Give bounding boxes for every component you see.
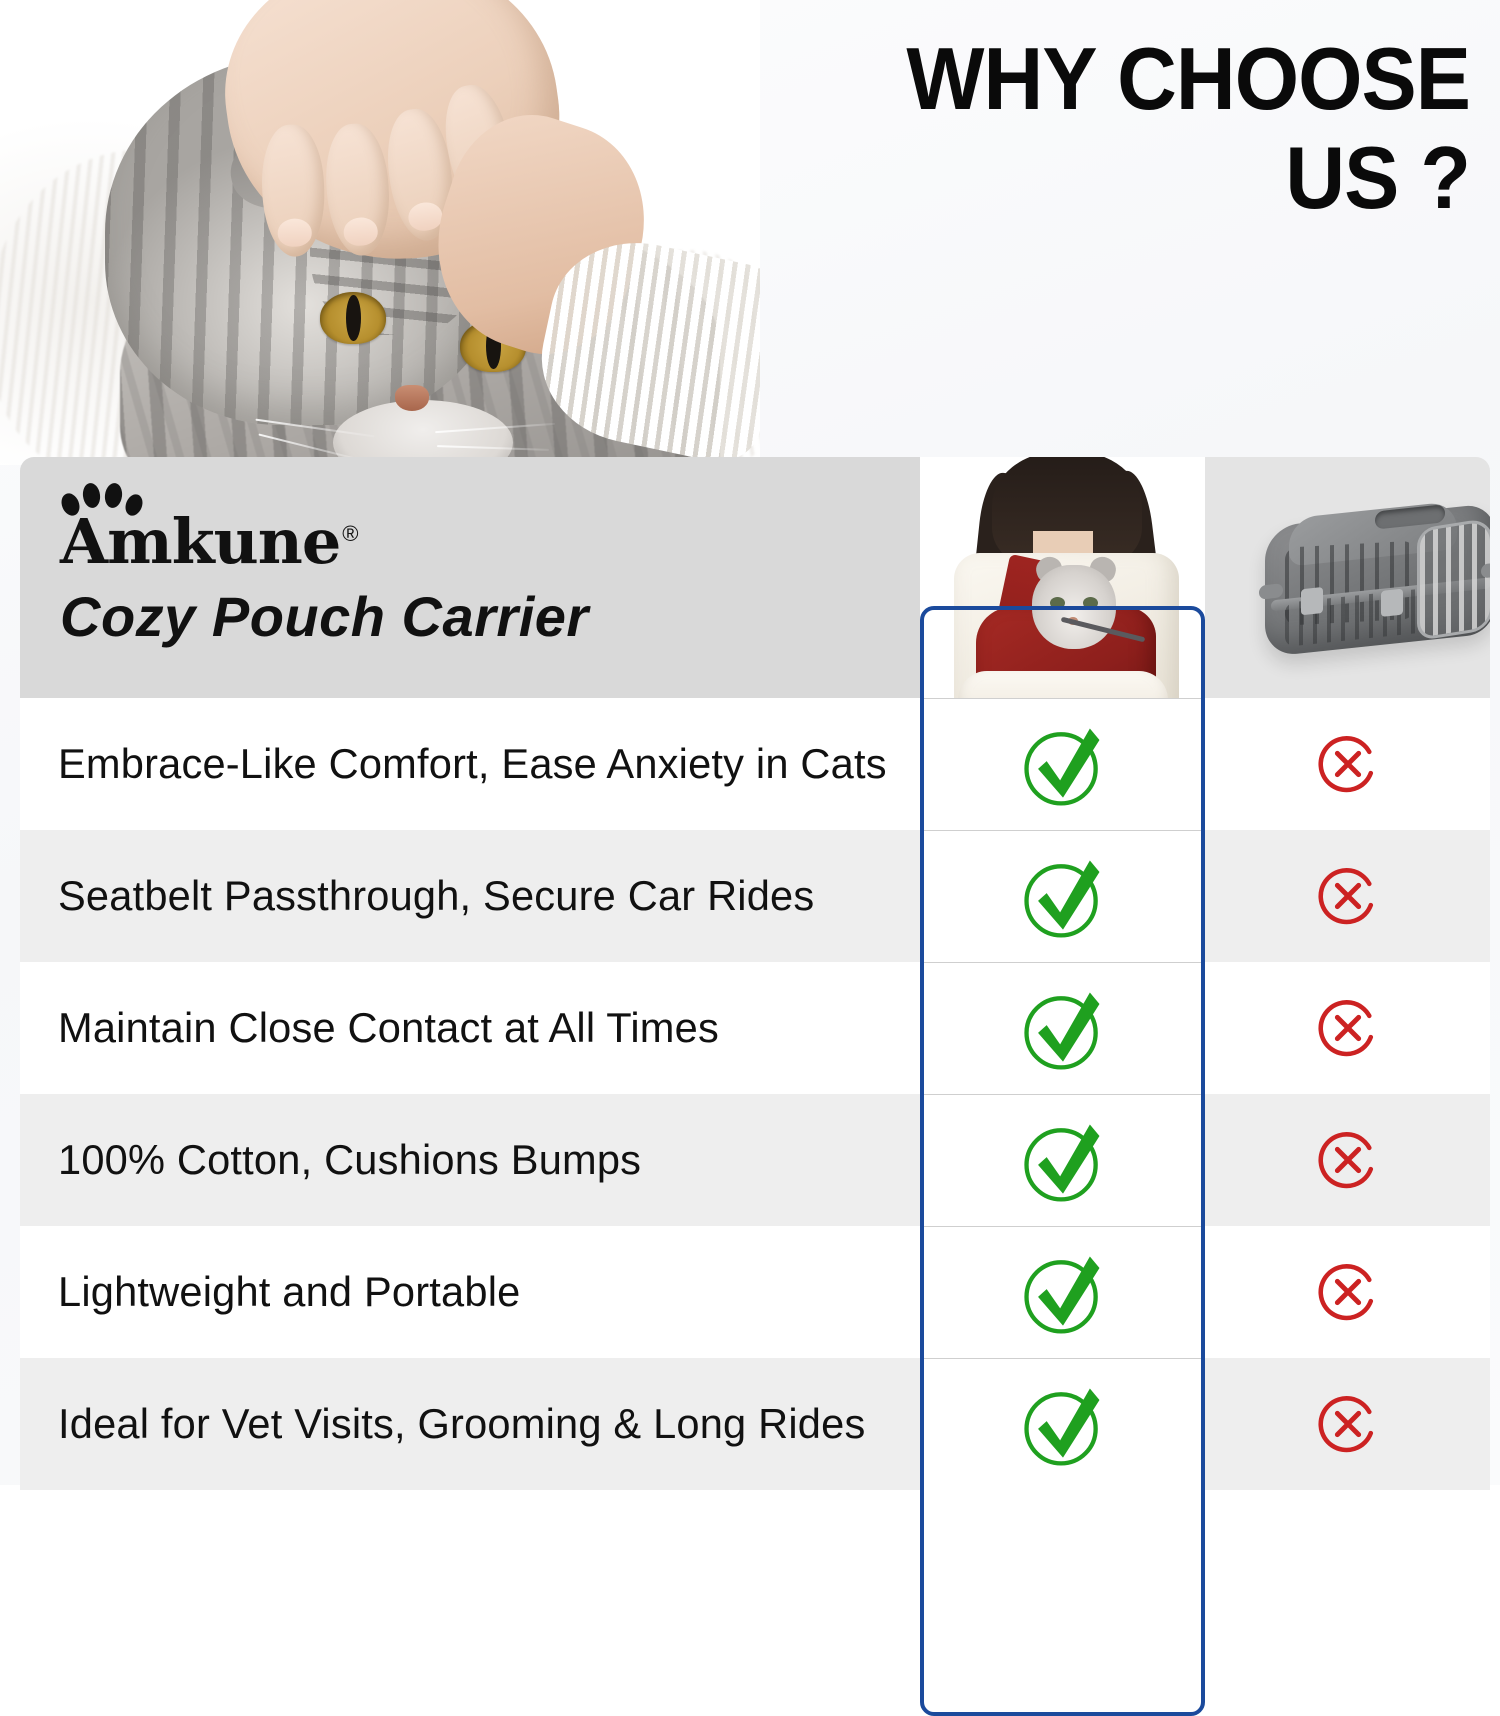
product-cell <box>920 962 1205 1094</box>
product-cell <box>920 698 1205 830</box>
infographic-page: WHY CHOOSE US ? Amkune® Cozy Pouch Carri… <box>0 0 1500 1485</box>
competitor-cell <box>1205 830 1490 962</box>
plastic-pet-crate <box>1265 503 1490 657</box>
competitor-header-cell <box>1205 457 1490 698</box>
crate-latch <box>1301 587 1323 615</box>
table-header-row: Amkune® Cozy Pouch Carrier <box>20 457 1490 698</box>
competitor-cell <box>1205 1094 1490 1226</box>
brand-name-text: Amkune <box>60 505 340 578</box>
table-row: Maintain Close Contact at All Times <box>20 962 1490 1094</box>
product-cell <box>920 1226 1205 1358</box>
feature-label: Maintain Close Contact at All Times <box>58 1004 719 1052</box>
carried-cat-head <box>1032 565 1116 649</box>
brand-logo: Amkune® <box>60 511 920 573</box>
feature-label: Embrace-Like Comfort, Ease Anxiety in Ca… <box>58 740 887 788</box>
table-row: Seatbelt Passthrough, Secure Car Rides <box>20 830 1490 962</box>
competitor-cell <box>1205 1226 1490 1358</box>
crate-wire-door <box>1417 517 1490 641</box>
competitor-cell <box>1205 1358 1490 1490</box>
feature-label: Lightweight and Portable <box>58 1268 520 1316</box>
feature-cell: Embrace-Like Comfort, Ease Anxiety in Ca… <box>20 698 920 830</box>
product-line-name: Cozy Pouch Carrier <box>60 589 920 645</box>
cat-nose <box>395 385 429 411</box>
feature-cell: Lightweight and Portable <box>20 1226 920 1358</box>
circled-check-icon <box>1015 717 1111 813</box>
page-title: WHY CHOOSE US ? <box>718 30 1470 227</box>
circled-cross-icon <box>1310 990 1386 1066</box>
comparison-table: Amkune® Cozy Pouch Carrier <box>20 457 1490 1490</box>
circled-cross-icon <box>1310 1122 1386 1198</box>
model-arm <box>958 671 1168 698</box>
circled-cross-icon <box>1310 1254 1386 1330</box>
circled-check-icon <box>1015 981 1111 1077</box>
table-row: 100% Cotton, Cushions Bumps <box>20 1094 1490 1226</box>
carried-cat-eye-left <box>1050 597 1065 609</box>
title-line-1: WHY CHOOSE <box>718 30 1470 129</box>
circled-cross-icon <box>1310 726 1386 802</box>
feature-label: Ideal for Vet Visits, Grooming & Long Ri… <box>58 1400 865 1448</box>
product-cell <box>920 830 1205 962</box>
feature-cell: 100% Cotton, Cushions Bumps <box>20 1094 920 1226</box>
paw-print-icon <box>62 481 142 515</box>
circled-check-icon <box>1015 849 1111 945</box>
table-body: Embrace-Like Comfort, Ease Anxiety in Ca… <box>20 698 1490 1490</box>
hero-cat-photo <box>0 0 760 465</box>
circled-cross-icon <box>1310 1386 1386 1462</box>
competitor-cell <box>1205 698 1490 830</box>
table-row: Embrace-Like Comfort, Ease Anxiety in Ca… <box>20 698 1490 830</box>
feature-cell: Seatbelt Passthrough, Secure Car Rides <box>20 830 920 962</box>
fingernail <box>277 218 312 247</box>
table-row: Ideal for Vet Visits, Grooming & Long Ri… <box>20 1358 1490 1490</box>
competitor-cell <box>1205 962 1490 1094</box>
feature-label: 100% Cotton, Cushions Bumps <box>58 1136 641 1184</box>
fingernail <box>343 216 379 246</box>
product-cell <box>920 1358 1205 1490</box>
competitor-photo <box>1205 457 1490 698</box>
circled-check-icon <box>1015 1245 1111 1341</box>
carried-cat-eye-right <box>1083 597 1098 609</box>
feature-label: Seatbelt Passthrough, Secure Car Rides <box>58 872 814 920</box>
circled-check-icon <box>1015 1377 1111 1473</box>
cat-eye-left <box>320 292 386 344</box>
registered-trademark-icon: ® <box>342 521 357 546</box>
table-row: Lightweight and Portable <box>20 1226 1490 1358</box>
title-line-2: US ? <box>718 129 1470 228</box>
brand-name: Amkune® <box>60 511 357 573</box>
product-cell <box>920 1094 1205 1226</box>
circled-cross-icon <box>1310 858 1386 934</box>
finger <box>322 122 393 258</box>
crate-latch <box>1381 589 1403 617</box>
product-photo <box>920 457 1205 698</box>
circled-check-icon <box>1015 1113 1111 1209</box>
brand-header-cell: Amkune® Cozy Pouch Carrier <box>20 457 920 698</box>
feature-cell: Maintain Close Contact at All Times <box>20 962 920 1094</box>
crate-side-knob <box>1259 583 1283 600</box>
product-header-cell <box>920 457 1205 698</box>
feature-cell: Ideal for Vet Visits, Grooming & Long Ri… <box>20 1358 920 1490</box>
